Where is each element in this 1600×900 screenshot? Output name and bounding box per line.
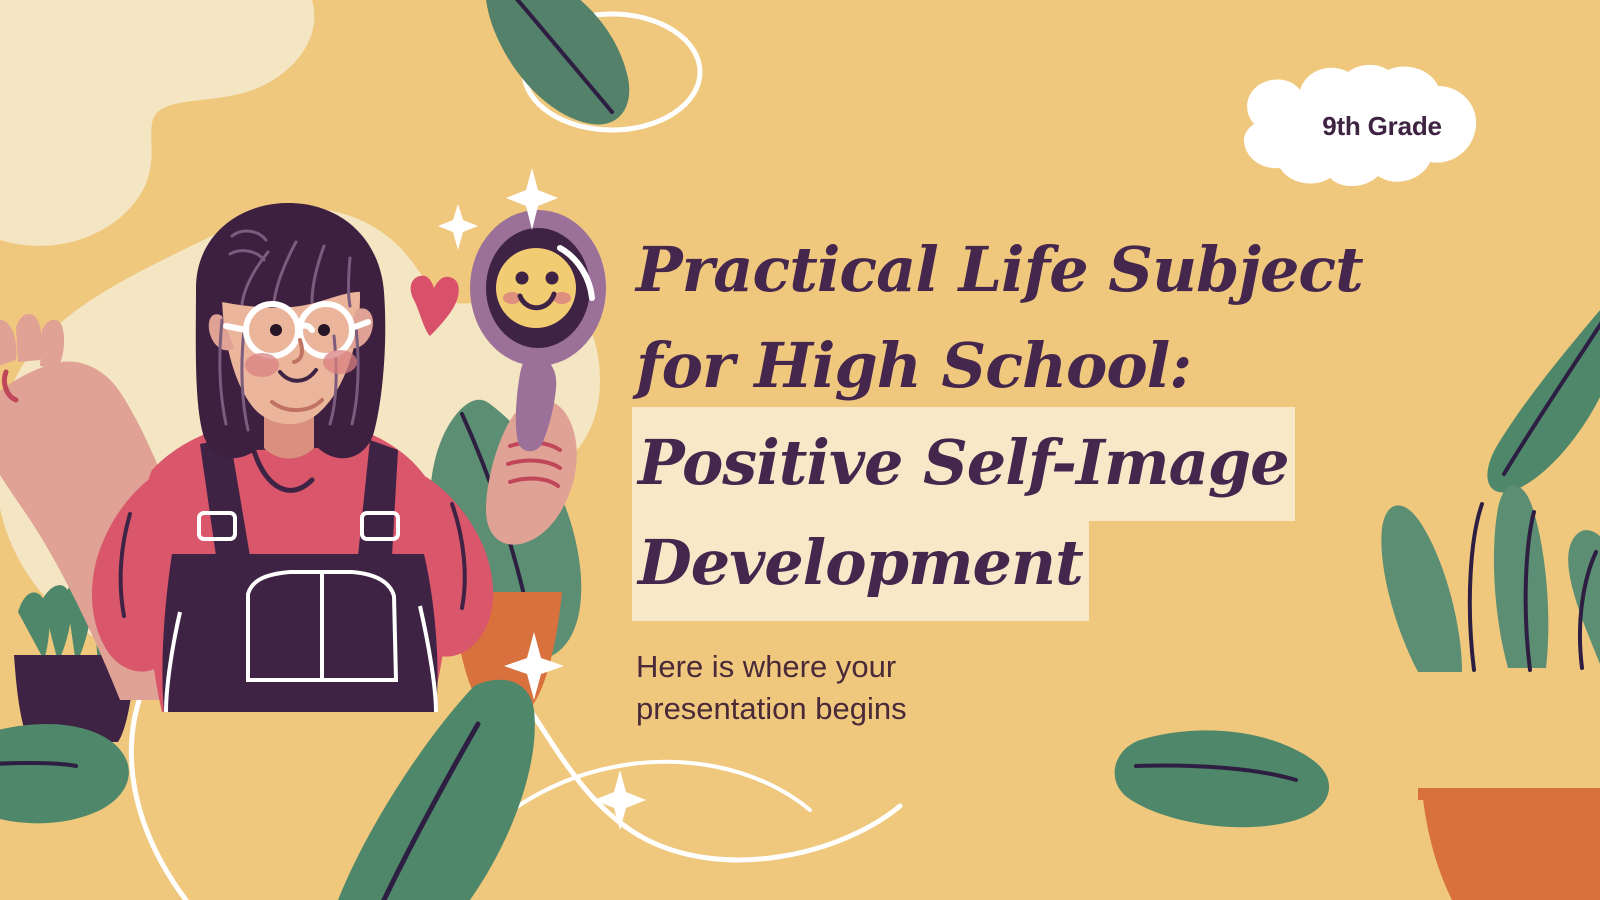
slide-subtitle: Here is where your presentation begins bbox=[636, 646, 976, 730]
hair-bun bbox=[216, 216, 280, 280]
eye-right bbox=[318, 324, 330, 336]
page-title-line-4: Development bbox=[636, 516, 1436, 612]
sparkle-icon bbox=[438, 204, 478, 250]
cheek-left bbox=[245, 353, 279, 377]
grade-badge-label: 9th Grade bbox=[1196, 62, 1486, 190]
heart-icon bbox=[411, 276, 459, 336]
mirror-eye-left bbox=[516, 272, 529, 285]
eye-left bbox=[270, 324, 282, 336]
page-title-line-2: for High School: bbox=[636, 318, 1436, 414]
cheek-right bbox=[323, 350, 357, 374]
mirror-eye-right bbox=[546, 272, 559, 285]
grade-badge: 9th Grade bbox=[1196, 62, 1486, 190]
page-title-line-1: Practical Life Subject bbox=[636, 222, 1436, 318]
presentation-slide: 9th Grade Practical Life Subject for Hig… bbox=[0, 0, 1600, 900]
sparkle-icon bbox=[504, 632, 564, 700]
sparkle-icon bbox=[594, 770, 646, 830]
slide-text-block: Practical Life Subject for High School: … bbox=[636, 222, 1436, 730]
page-title-line-3: Positive Self-Image bbox=[636, 416, 1436, 512]
mirror-reflection-face bbox=[496, 248, 576, 328]
